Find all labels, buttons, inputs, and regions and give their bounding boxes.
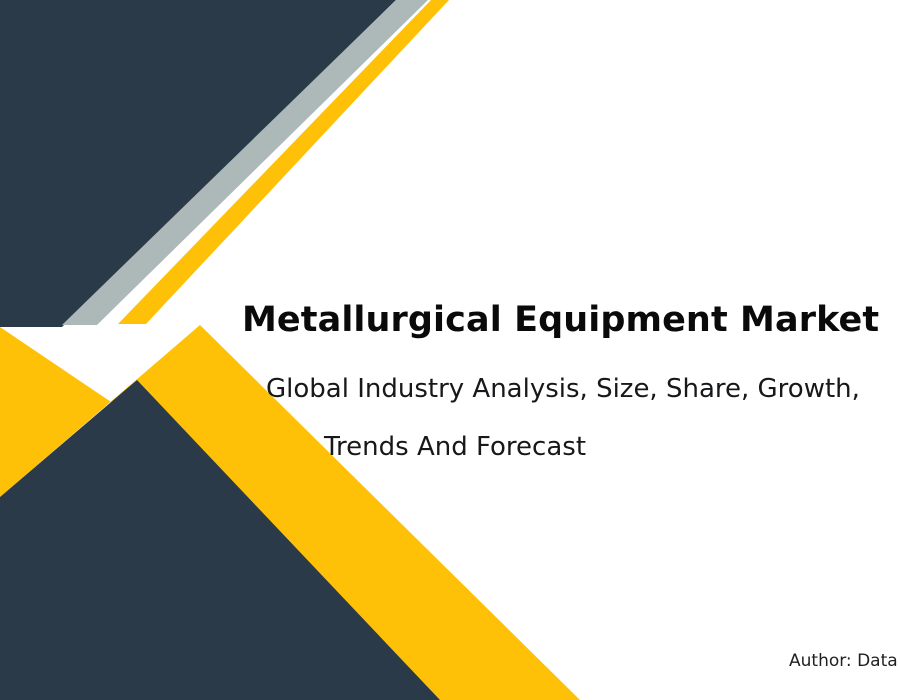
subtitle-block: Global Industry Analysis, Size, Share, G… <box>266 360 900 476</box>
navy-lower-left-wedge <box>0 497 180 700</box>
page-title: Metallurgical Equipment Market <box>242 298 900 342</box>
navy-upper-left-triangle <box>0 0 396 327</box>
subtitle-line-2: Trends And Forecast <box>324 418 900 476</box>
cover-decoration <box>0 0 900 700</box>
report-cover: Metallurgical Equipment Market Global In… <box>0 0 900 700</box>
subtitle-line-1: Global Industry Analysis, Size, Share, G… <box>266 360 900 418</box>
title-block: Metallurgical Equipment Market Global In… <box>242 298 900 342</box>
gray-diagonal-band <box>62 0 428 325</box>
yellow-diagonal-band <box>118 0 449 324</box>
author-credit: Author: Data <box>789 650 898 672</box>
white-background <box>0 0 900 700</box>
